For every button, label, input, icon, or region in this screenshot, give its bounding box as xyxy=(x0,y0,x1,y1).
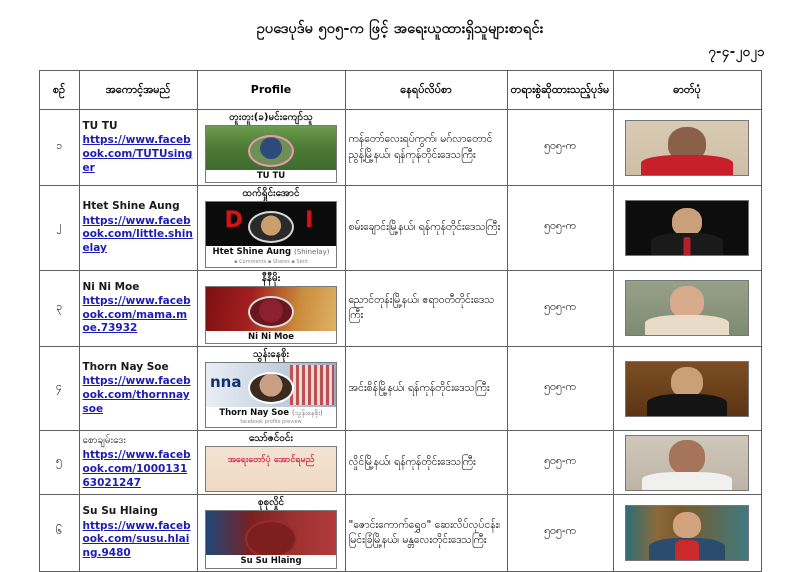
photo-cell xyxy=(613,431,761,495)
profile-card-subname: (သွန်းနေစိုး) xyxy=(292,409,323,417)
row-number: ၅ xyxy=(39,431,79,495)
photo-cell xyxy=(613,346,761,430)
law-section-cell: ၅၀၅-က xyxy=(507,186,613,270)
photo-cell xyxy=(613,270,761,346)
table-row: ၅ စောချမ်းဒေး https://www.facebook.com/1… xyxy=(39,431,761,495)
profile-card-name: TU TU xyxy=(206,170,336,182)
profile-cell: သွန်းနေစိုး nna Thorn Nay Soe (သွန်းနေစိ… xyxy=(197,346,345,430)
photo-cell xyxy=(613,495,761,571)
law-section-cell: ၅၀၅-က xyxy=(507,495,613,571)
row-number: ၂ xyxy=(39,186,79,270)
account-link[interactable]: https://www.facebook.com/thornnaysoe xyxy=(83,375,194,416)
table-row: ၁ TU TU https://www.facebook.com/TUTUsin… xyxy=(39,109,761,185)
profile-cover-image xyxy=(206,126,336,170)
profile-card-name-text: Htet Shine Aung xyxy=(213,247,292,257)
profile-cover-image xyxy=(206,287,336,331)
cover-banner-text: အရေးတော်ပုံ အောင်ရမည် xyxy=(206,455,336,466)
person-photo xyxy=(625,361,749,417)
profile-cover-image: အရေးတော်ပုံ အောင်ရမည် xyxy=(206,447,336,491)
account-cell: TU TU https://www.facebook.com/TUTUsinge… xyxy=(79,109,197,185)
document-date: ၇-၄-၂၀၂၁ xyxy=(0,38,800,63)
account-cell: Thorn Nay Soe https://www.facebook.com/t… xyxy=(79,346,197,430)
table-header-row: စဉ် အကောင့်အမည် Profile နေရပ်လိပ်စာ တရား… xyxy=(39,70,761,109)
address-cell: ညောင်တုန်းမြို့နယ်၊ ဧရာဝတီတိုင်းဒေသကြီး xyxy=(345,270,507,346)
profile-avatar xyxy=(248,296,294,328)
profile-avatar xyxy=(248,372,294,404)
facebook-profile-card: nna Thorn Nay Soe (သွန်းနေစိုး) facebook… xyxy=(205,362,337,428)
facebook-profile-card: D I Htet Shine Aung (Shinelay) ▪ Comment… xyxy=(205,201,337,267)
row-number: ၆ xyxy=(39,495,79,571)
account-link[interactable]: https://www.facebook.com/mama.moe.73932 xyxy=(83,295,194,336)
profile-card-meta: facebook profile preview xyxy=(206,419,336,427)
law-section-cell: ၅၀၅-က xyxy=(507,109,613,185)
account-name: Thorn Nay Soe xyxy=(83,361,194,374)
facebook-profile-card: အရေးတော်ပုံ အောင်ရမည် xyxy=(205,446,337,492)
account-name: စောချမ်းဒေး xyxy=(83,435,194,448)
profile-cell: နီနီမိုး Ni Ni Moe xyxy=(197,270,345,346)
table-row: ၃ Ni Ni Moe https://www.facebook.com/mam… xyxy=(39,270,761,346)
profile-avatar xyxy=(248,211,294,243)
account-link[interactable]: https://www.facebook.com/little.shinelay xyxy=(83,215,194,256)
column-header-profile: Profile xyxy=(197,70,345,109)
column-header-address: နေရပ်လိပ်စာ xyxy=(345,70,507,109)
account-cell: Htet Shine Aung https://www.facebook.com… xyxy=(79,186,197,270)
law-section-cell: ၅၀၅-က xyxy=(507,346,613,430)
column-header-no: စဉ် xyxy=(39,70,79,109)
photo-cell xyxy=(613,186,761,270)
row-number: ၄ xyxy=(39,346,79,430)
account-name: Htet Shine Aung xyxy=(83,200,194,213)
profile-cell: ထက်ရှိုင်းအောင် D I Htet Shine Aung (Shi… xyxy=(197,186,345,270)
column-header-account: အကောင့်အမည် xyxy=(79,70,197,109)
page-title: ဥပဒေပုဒ်မ ၅၀၅-က ဖြင့် အရေးယူထားရှိသူများ… xyxy=(0,0,800,38)
account-cell: Ni Ni Moe https://www.facebook.com/mama.… xyxy=(79,270,197,346)
address-cell: အင်းစိန်မြို့နယ်၊ ရန်ကုန်တိုင်းဒေသကြီး xyxy=(345,346,507,430)
person-photo xyxy=(625,435,749,491)
row-number: ၁ xyxy=(39,109,79,185)
profile-cover-image xyxy=(206,511,336,555)
profile-card-meta: ▪ Comments ▪ Shares ▪ Sent xyxy=(206,259,336,267)
profile-card-name-text: Thorn Nay Soe xyxy=(219,408,289,418)
facebook-profile-card: Su Su Hlaing xyxy=(205,510,337,568)
person-photo xyxy=(625,200,749,256)
wanted-persons-table: စဉ် အကောင့်အမည် Profile နေရပ်လိပ်စာ တရား… xyxy=(39,70,762,572)
profile-cell: စုစုလှိုင် Su Su Hlaing xyxy=(197,495,345,571)
address-cell: လှိုင်မြို့နယ်၊ ရန်ကုန်တိုင်းဒေသကြီး xyxy=(345,431,507,495)
cover-stripes xyxy=(290,365,334,405)
account-name: Su Su Hlaing xyxy=(83,505,194,518)
profile-myanmar-name: ထက်ရှိုင်းအောင် xyxy=(201,188,342,199)
account-name: TU TU xyxy=(83,120,194,133)
profile-cover-image: D I xyxy=(206,202,336,246)
profile-card-name: Thorn Nay Soe (သွန်းနေစိုး) xyxy=(206,407,336,419)
row-number: ၃ xyxy=(39,270,79,346)
document-page: ဥပဒေပုဒ်မ ၅၀၅-က ဖြင့် အရေးယူထားရှိသူများ… xyxy=(0,0,800,550)
profile-card-name: Su Su Hlaing xyxy=(206,555,336,567)
profile-card-name: Ni Ni Moe xyxy=(206,331,336,343)
address-cell: ကန်တော်လေးရပ်ကွက်၊ မဂ်လာတောင်ညွန့်မြို့န… xyxy=(345,109,507,185)
photo-cell xyxy=(613,109,761,185)
person-photo xyxy=(625,120,749,176)
profile-cell: တူးတူး(ခ)မင်းကျော်သူ TU TU xyxy=(197,109,345,185)
table-row: ၂ Htet Shine Aung https://www.facebook.c… xyxy=(39,186,761,270)
table-row: ၄ Thorn Nay Soe https://www.facebook.com… xyxy=(39,346,761,430)
facebook-profile-card: TU TU xyxy=(205,125,337,183)
column-header-law: တရားစွဲဆိုထားသည့်ပုဒ်မ xyxy=(507,70,613,109)
table-row: ၆ Su Su Hlaing https://www.facebook.com/… xyxy=(39,495,761,571)
profile-myanmar-name: သော်ဇင်ဝင်း xyxy=(201,433,342,444)
profile-cover-image: nna xyxy=(206,363,336,407)
profile-myanmar-name: နီနီမိုး xyxy=(201,273,342,284)
law-section-cell: ၅၀၅-က xyxy=(507,270,613,346)
account-cell: Su Su Hlaing https://www.facebook.com/su… xyxy=(79,495,197,571)
account-name: Ni Ni Moe xyxy=(83,281,194,294)
account-cell: စောချမ်းဒေး https://www.facebook.com/100… xyxy=(79,431,197,495)
address-cell: "ဇောင်းကောက်ရွှေဝ" ဆေးလိပ်လုပ်ငန်း၊ မြင်… xyxy=(345,495,507,571)
profile-card-name: Htet Shine Aung (Shinelay) xyxy=(206,246,336,258)
profile-myanmar-name: တူးတူး(ခ)မင်းကျော်သူ xyxy=(201,112,342,123)
address-cell: စမ်းချောင်းမြို့နယ်၊ ရန်ကုန်တိုင်းဒေသကြီ… xyxy=(345,186,507,270)
person-photo xyxy=(625,505,749,561)
column-header-photo: ဓာတ်ပုံ xyxy=(613,70,761,109)
account-link[interactable]: https://www.facebook.com/TUTUsinger xyxy=(83,134,194,175)
facebook-profile-card: Ni Ni Moe xyxy=(205,286,337,344)
person-photo xyxy=(625,280,749,336)
profile-myanmar-name: သွန်းနေစိုး xyxy=(201,349,342,360)
profile-myanmar-name: စုစုလှိုင် xyxy=(201,497,342,508)
law-section-cell: ၅၀၅-က xyxy=(507,431,613,495)
account-link[interactable]: https://www.facebook.com/susu.hlaing.948… xyxy=(83,520,194,561)
profile-avatar xyxy=(245,520,297,555)
profile-cell: သော်ဇင်ဝင်း အရေးတော်ပုံ အောင်ရမည် xyxy=(197,431,345,495)
profile-avatar xyxy=(248,135,294,167)
account-link[interactable]: https://www.facebook.com/100013163021247 xyxy=(83,449,194,490)
profile-card-subname: (Shinelay) xyxy=(294,248,329,256)
